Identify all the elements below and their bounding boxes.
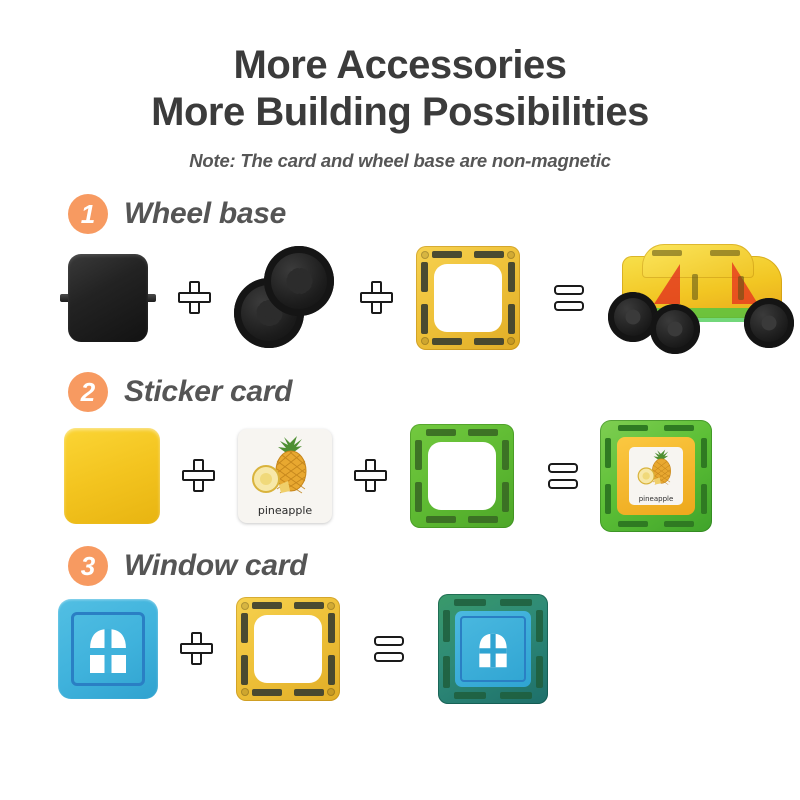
wheel-base-plate [60,254,156,342]
step-header-1: 1 Wheel base [0,194,800,234]
plus-operator-icon [180,632,214,666]
tile-opening [254,615,322,683]
step-row-wheel-base: 1 Wheel base [0,194,800,354]
yellow-square-frame-tile [416,246,520,350]
wheel-pair [234,246,338,350]
step-row-sticker-card: 2 Sticker card [0,372,800,532]
green-square-frame-tile [410,424,514,528]
assembled-window-tile [438,594,548,704]
inner-card-label: pineapple [629,495,683,503]
equation-row-2: pineapple [0,420,800,532]
step-number-badge-2: 2 [68,372,108,412]
step-number-badge-1: 1 [68,194,108,234]
assembled-sticker-tile: pineapple [600,420,712,532]
inner-blue-window-card [455,611,531,687]
pineapple-illustration-icon [629,449,683,487]
step-label-3: Window card [124,549,307,583]
car-wheel-icon [744,298,794,348]
step-label-2: Sticker card [124,375,292,409]
equation-row-3 [0,594,800,704]
step-row-window-card: 3 Window card [0,546,800,704]
card-label: pineapple [238,504,332,517]
page-title-line-2: More Building Possibilities [0,89,800,136]
page-title-line-1: More Accessories [0,42,800,89]
step-number-badge-3: 3 [68,546,108,586]
assembled-magnetic-car [606,242,796,354]
tile-opening [428,442,496,510]
tile-opening [434,264,502,332]
step-header-2: 2 Sticker card [0,372,800,412]
plus-operator-icon [360,281,394,315]
equals-operator-icon [548,463,578,489]
page-header: More Accessories More Building Possibili… [0,0,800,172]
window-icon [58,599,158,699]
window-icon [455,611,531,687]
wheel-base-plate-body [68,254,148,342]
equals-operator-icon [374,636,404,662]
inner-pineapple-card: pineapple [629,447,683,505]
blue-window-card [58,599,158,699]
car-wheel-icon [650,304,700,354]
yellow-sticker-tile [64,428,160,524]
plus-operator-icon [354,459,388,493]
pineapple-illustration-icon [238,435,332,497]
note-text: Note: The card and wheel base are non-ma… [0,150,800,172]
equals-operator-icon [554,285,584,311]
step-label-1: Wheel base [124,197,286,231]
wheel-icon [264,246,334,316]
equation-row-1 [0,242,800,354]
step-header-3: 3 Window card [0,546,800,586]
plus-operator-icon [182,459,216,493]
pineapple-card: pineapple [238,429,332,523]
plus-operator-icon [178,281,212,315]
yellow-square-frame-tile [236,597,340,701]
